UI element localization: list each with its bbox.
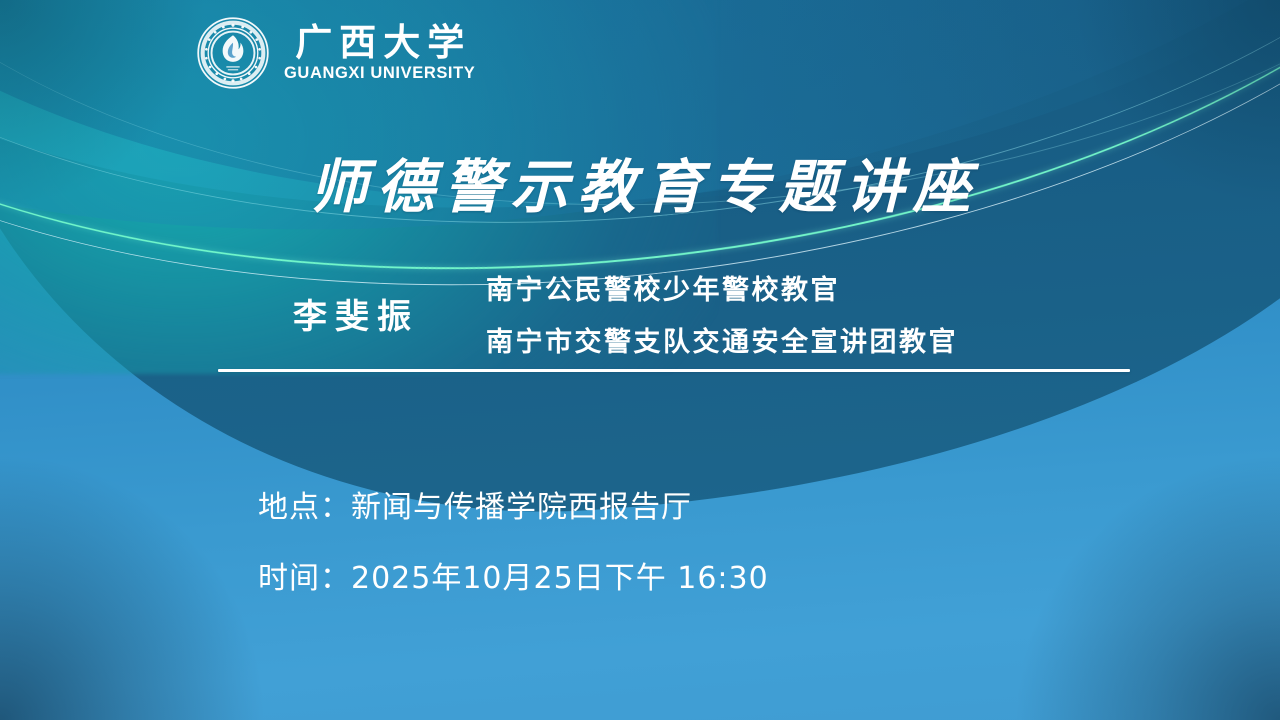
- horizontal-divider: [218, 369, 1130, 372]
- speaker-name: 李斐振: [218, 289, 486, 338]
- speaker-credentials: 南宁公民警校少年警校教官 南宁市交警支队交通安全宣讲团教官: [486, 268, 958, 359]
- university-name-cn: 广西大学: [288, 23, 471, 63]
- university-wordmark: 广西大学 GUANGXI UNIVERSITY: [284, 23, 475, 84]
- background-hairline-top: [0, 0, 1280, 270]
- corner-vignette: [0, 0, 1280, 720]
- university-seal-icon: [196, 16, 270, 90]
- slide-title: 师德警示教育专题讲座: [0, 140, 1280, 224]
- university-name-en: GUANGXI UNIVERSITY: [284, 64, 475, 83]
- event-details: 地点：新闻与传播学院西报告厅 时间：2025年10月25日下午 16:30: [258, 482, 769, 597]
- event-time: 时间：2025年10月25日下午 16:30: [258, 553, 769, 597]
- university-logo: 广西大学 GUANGXI UNIVERSITY: [196, 16, 475, 90]
- presentation-slide: 广西大学 GUANGXI UNIVERSITY 师德警示教育专题讲座 李斐振 南…: [0, 0, 1280, 720]
- speaker-block: 李斐振 南宁公民警校少年警校教官 南宁市交警支队交通安全宣讲团教官: [218, 268, 1130, 359]
- slide-background: [0, 0, 1280, 720]
- speaker-credential-line: 南宁市交警支队交通安全宣讲团教官: [486, 320, 958, 359]
- event-location: 地点：新闻与传播学院西报告厅: [258, 482, 769, 526]
- speaker-credential-line: 南宁公民警校少年警校教官: [486, 268, 958, 307]
